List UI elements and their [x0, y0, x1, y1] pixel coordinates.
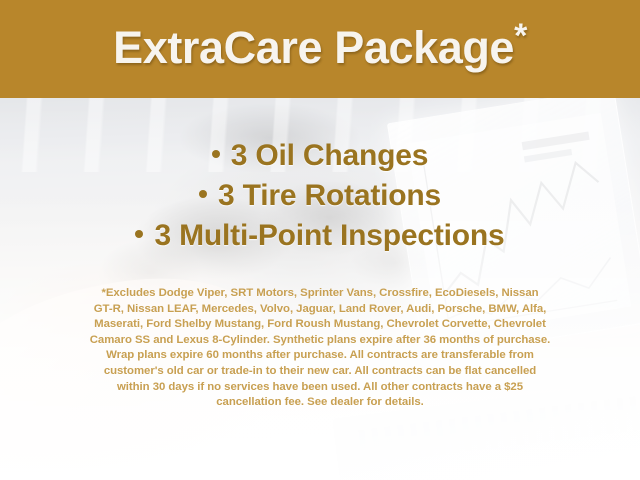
disclaimer-line: *Excludes Dodge Viper, SRT Motors, Sprin… — [30, 286, 610, 302]
header-band: ExtraCare Package* — [0, 0, 640, 98]
page-title: ExtraCare Package* — [113, 25, 527, 74]
page-title-text: ExtraCare Package — [113, 22, 514, 73]
list-item: 3 Multi-Point Inspections — [0, 216, 640, 256]
benefit-label: 3 Multi-Point Inspections — [154, 219, 504, 252]
disclaimer-line: cancellation fee. See dealer for details… — [30, 395, 610, 411]
disclaimer-text: *Excludes Dodge Viper, SRT Motors, Sprin… — [30, 286, 610, 411]
disclaimer-line: Wrap plans expire 60 months after purcha… — [30, 348, 610, 364]
extracare-package-promo-card: ExtraCare Package* 3 Oil Changes 3 Tire … — [0, 0, 640, 480]
disclaimer-line: Maserati, Ford Shelby Mustang, Ford Rous… — [30, 317, 610, 333]
disclaimer-line: customer's old car or trade-in to their … — [30, 364, 610, 380]
benefits-list: 3 Oil Changes 3 Tire Rotations 3 Multi-P… — [0, 136, 640, 256]
page-title-asterisk: * — [514, 17, 527, 55]
list-item: 3 Tire Rotations — [0, 176, 640, 216]
disclaimer-line: GT-R, Nissan LEAF, Mercedes, Volvo, Jagu… — [30, 302, 610, 318]
bullet-dot-icon — [135, 230, 143, 238]
bullet-dot-icon — [199, 190, 207, 198]
disclaimer-line: Camaro SS and Lexus 8-Cylinder. Syntheti… — [30, 333, 610, 349]
benefit-label: 3 Tire Rotations — [218, 179, 441, 212]
benefit-label: 3 Oil Changes — [231, 139, 428, 172]
list-item: 3 Oil Changes — [0, 136, 640, 176]
disclaimer-line: within 30 days if no services have been … — [30, 380, 610, 396]
bullet-dot-icon — [212, 150, 220, 158]
